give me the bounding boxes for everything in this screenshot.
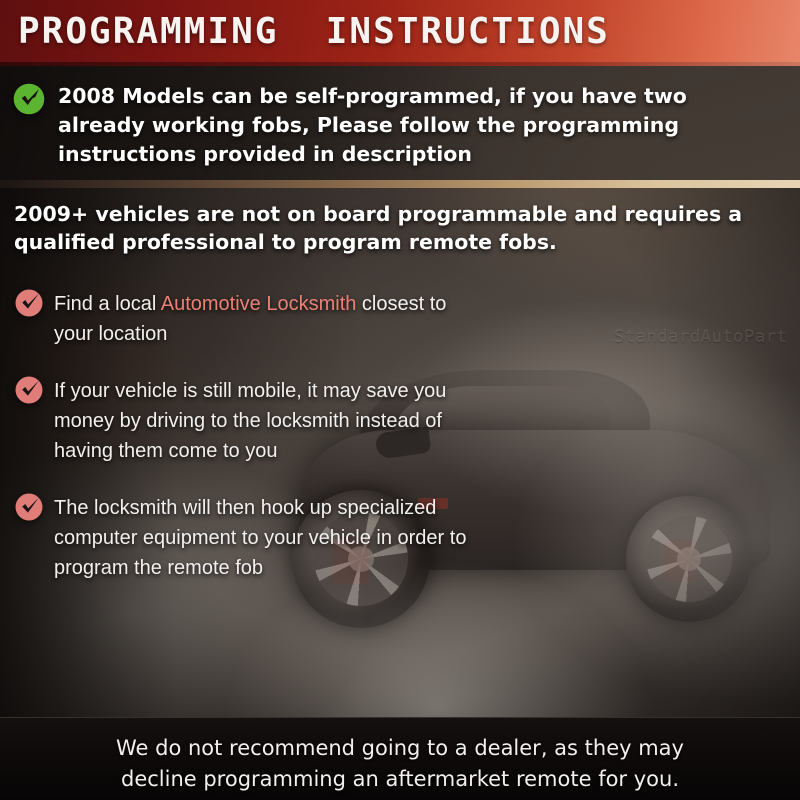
pink-check-circle-icon [14,288,44,318]
bullet-text-before: Find a local [54,293,161,315]
pink-check-circle-icon [14,492,44,522]
list-item-text: The locksmith will then hook up speciali… [54,492,484,583]
list-item: The locksmith will then hook up speciali… [14,492,484,583]
footer-banner: We do not recommend going to a dealer, a… [0,717,800,800]
panel-2008-models: 2008 Models can be self-programmed, if y… [0,66,800,188]
list-item-text: If your vehicle is still mobile, it may … [54,375,484,466]
instruction-bullet-list: Find a local Automotive Locksmith closes… [14,288,484,609]
pink-check-circle-icon [14,375,44,405]
list-item: Find a local Automotive Locksmith closes… [14,288,484,349]
header-banner: PROGRAMMING INSTRUCTIONS [0,0,800,66]
footer-text: We do not recommend going to a dealer, a… [0,733,800,795]
car-rear-wheel [626,496,752,622]
footer-line-two: decline programming an aftermarket remot… [0,764,800,795]
bullet-accent-text: Automotive Locksmith [161,293,357,315]
panel-2009-text: 2009+ vehicles are not on board programm… [14,200,774,256]
programming-instructions-graphic: StandardAutoPart PROGRAMMING INSTRUCTION… [0,0,800,800]
watermark-brand: StandardAutoPart [614,327,787,347]
bullet-text-before: If your vehicle is still mobile, it may … [54,380,446,462]
wheel-rim [646,516,732,602]
bullet-text-before: The locksmith will then hook up speciali… [54,497,466,579]
footer-line-one: We do not recommend going to a dealer, a… [0,733,800,764]
panel-2008-text: 2008 Models can be self-programmed, if y… [58,82,766,169]
list-item: If your vehicle is still mobile, it may … [14,375,484,466]
list-item-text: Find a local Automotive Locksmith closes… [54,288,484,349]
page-title: PROGRAMMING INSTRUCTIONS [18,11,610,52]
green-check-circle-icon [12,82,46,116]
panel-2009-plus: 2009+ vehicles are not on board programm… [0,196,800,278]
